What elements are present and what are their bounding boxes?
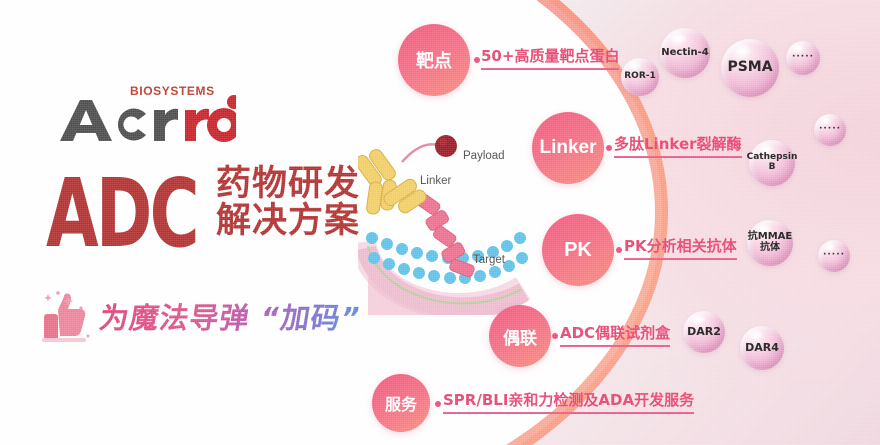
category-circle-target-label: 靶点	[416, 47, 452, 73]
bullet-dot-target	[474, 57, 480, 63]
underline-pk	[624, 258, 737, 260]
logo-acro-mark	[58, 94, 236, 144]
pearl-cathepsin-b-label: Cathepsin B	[747, 153, 798, 172]
pearl-more-linkers-label: ·····	[819, 125, 841, 135]
tagline: 为魔法导弹 “加码”	[100, 295, 361, 337]
underline-conjugation	[560, 345, 670, 347]
pearl-psma-label: PSMA	[727, 60, 772, 75]
adc-illustration: Payload Linker Target	[358, 130, 548, 315]
pearl-ror1[interactable]: ROR-1	[621, 58, 659, 96]
pearl-more-targets-label: ·····	[792, 53, 814, 63]
underline-target	[481, 68, 619, 70]
payload-label: Payload	[463, 150, 505, 162]
category-circle-service[interactable]: 服务	[372, 374, 430, 432]
acro-biosystems-logo: BIOSYSTEMS	[58, 84, 258, 146]
bullet-dot-linker	[606, 145, 612, 151]
pearl-more-linkers[interactable]: ·····	[814, 114, 846, 146]
category-circle-linker[interactable]: Linker	[532, 112, 604, 184]
category-circle-service-label: 服务	[385, 391, 417, 415]
category-circle-target[interactable]: 靶点	[398, 24, 470, 96]
target-label: Target	[473, 254, 505, 266]
category-desc-pk: PK分析相关抗体	[624, 235, 737, 260]
category-desc-pk-text: PK分析相关抗体	[624, 237, 737, 255]
pearl-more-pk-label: ·····	[823, 251, 845, 261]
pearl-ror1-label: ROR-1	[624, 72, 656, 82]
category-desc-linker: 多肽Linker裂解酶	[614, 133, 742, 158]
tagline-text: 为魔法导弹 “加码”	[97, 295, 365, 337]
adc-promo-banner: BIOSYSTEMS ADC 药物研发 解决方案	[0, 0, 880, 445]
pearl-dar2[interactable]: DAR2	[683, 311, 725, 353]
category-circle-pk-label: PK	[564, 239, 592, 262]
category-desc-conjugation: ADC偶联试剂盒	[560, 322, 670, 347]
thumbs-up-icon	[36, 288, 100, 346]
pearl-dar4-label: DAR4	[745, 342, 779, 354]
category-circle-pk[interactable]: PK	[542, 214, 614, 286]
underline-service	[443, 412, 694, 414]
headline-adc: ADC	[46, 169, 197, 260]
headline-chinese: 药物研发 解决方案	[216, 166, 360, 240]
pearl-dar4[interactable]: DAR4	[740, 326, 784, 370]
pearl-more-pk[interactable]: ·····	[818, 240, 850, 272]
bullet-dot-conjugation	[552, 333, 558, 339]
pearl-more-targets[interactable]: ·····	[786, 41, 820, 75]
pearl-nectin4[interactable]: Nectin-4	[660, 28, 710, 78]
headline-line-1: 药物研发	[216, 166, 360, 203]
bullet-dot-pk	[616, 247, 622, 253]
pearl-psma[interactable]: PSMA	[721, 39, 779, 97]
bullet-dot-service	[435, 401, 441, 407]
underline-linker	[614, 156, 742, 158]
pearl-nectin4-label: Nectin-4	[661, 48, 709, 59]
category-desc-service-text: SPR/BLI亲和力检测及ADA开发服务	[443, 391, 694, 409]
pearl-cathepsin-b[interactable]: Cathepsin B	[749, 140, 795, 186]
pearl-dar2-label: DAR2	[687, 326, 721, 338]
headline-line-2: 解决方案	[216, 203, 360, 240]
pearl-anti-mmae[interactable]: 抗MMAE 抗体	[747, 220, 793, 266]
category-circle-linker-label: Linker	[539, 137, 596, 159]
category-desc-service: SPR/BLI亲和力检测及ADA开发服务	[443, 389, 694, 414]
pearl-anti-mmae-label: 抗MMAE 抗体	[748, 232, 792, 254]
category-desc-linker-text: 多肽Linker裂解酶	[614, 135, 742, 153]
linker-label: Linker	[420, 175, 451, 187]
category-desc-conjugation-text: ADC偶联试剂盒	[560, 324, 670, 342]
category-desc-target: 50+高质量靶点蛋白	[481, 45, 619, 70]
category-circle-conjugation[interactable]: 偶联	[489, 305, 551, 367]
headline: ADC 药物研发 解决方案	[46, 166, 360, 240]
category-desc-target-text: 50+高质量靶点蛋白	[481, 47, 619, 65]
category-circle-conjugation-label: 偶联	[503, 324, 537, 349]
